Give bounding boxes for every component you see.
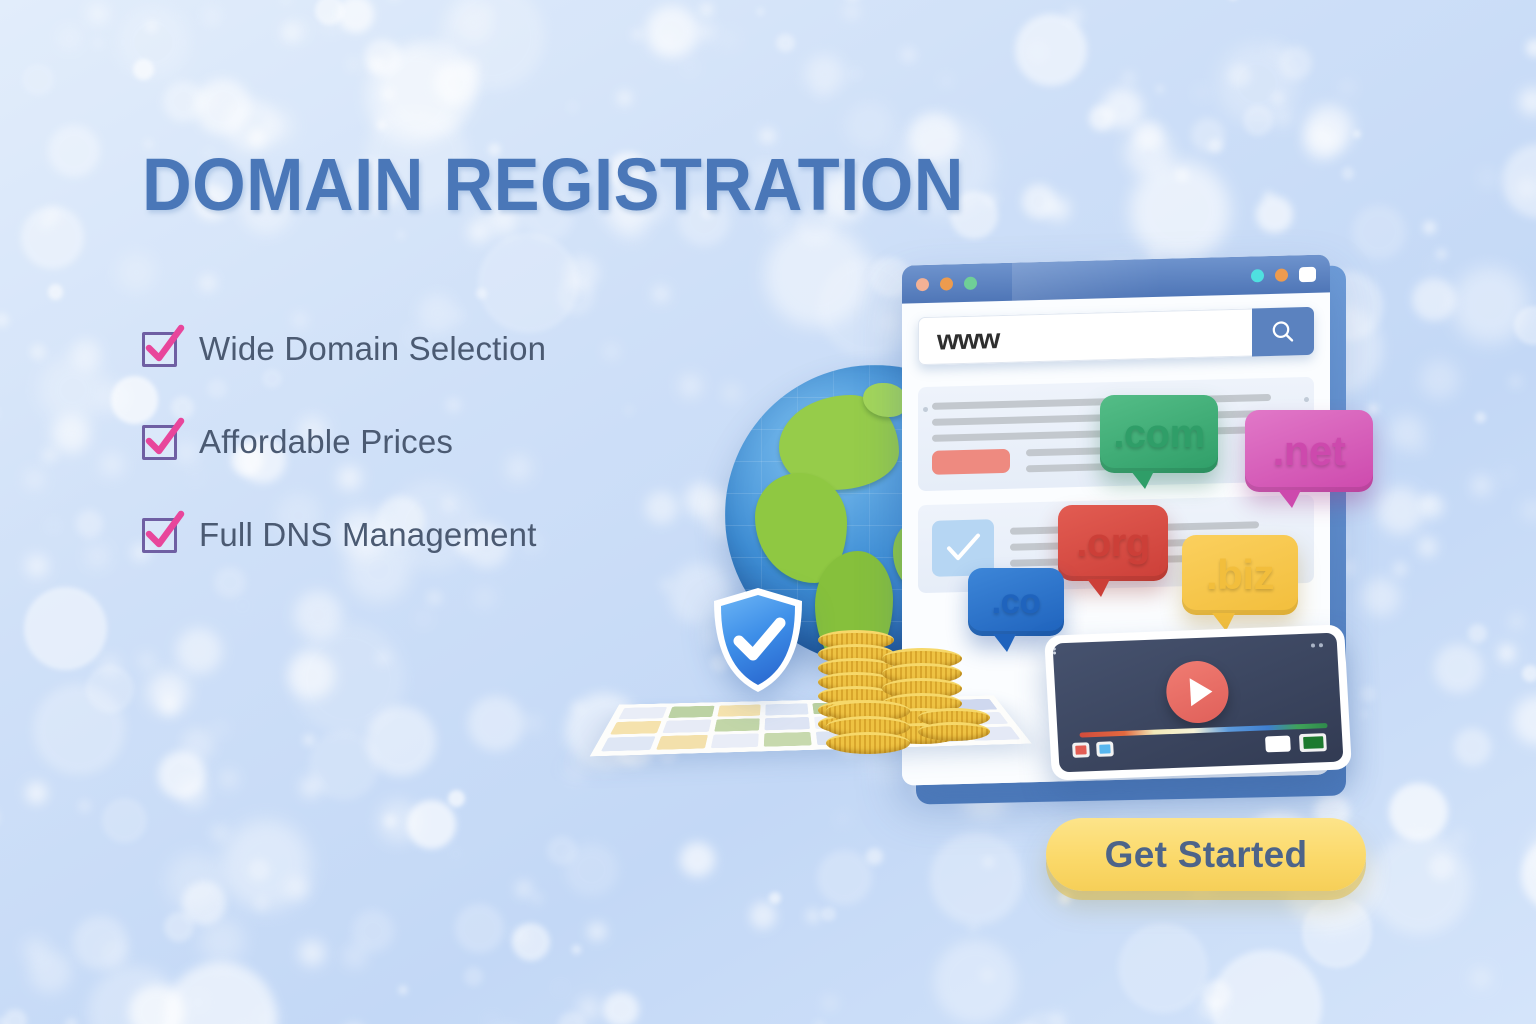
media-control-icon[interactable] — [1096, 741, 1114, 757]
window-dot-orange-icon — [1275, 268, 1288, 281]
play-icon[interactable] — [1165, 660, 1230, 724]
domain-bubble-com[interactable]: .com — [1100, 395, 1218, 473]
search-bar[interactable]: www — [918, 307, 1314, 365]
progress-bar[interactable] — [1079, 723, 1327, 738]
feature-list: Wide Domain Selection Affordable Prices … — [142, 330, 962, 554]
subtitle-control-icon[interactable] — [1265, 735, 1291, 752]
video-screen — [1052, 633, 1343, 773]
checkbox-checked-icon — [142, 518, 177, 553]
domain-bubble-co[interactable]: .co — [968, 568, 1064, 636]
list-item-label: Affordable Prices — [199, 423, 453, 461]
page-title: DOMAIN REGISTRATION — [142, 148, 905, 222]
window-dot-cyan-icon — [1251, 269, 1264, 282]
get-started-label: Get Started — [1105, 834, 1308, 876]
checkbox-checked-icon — [142, 425, 177, 460]
record-control-icon[interactable] — [1072, 742, 1090, 758]
list-item-label: Full DNS Management — [199, 516, 537, 554]
list-item: Wide Domain Selection — [142, 330, 962, 368]
domain-bubble-net[interactable]: .net — [1245, 410, 1373, 492]
domain-bubble-label: .biz — [1206, 551, 1274, 599]
domain-bubble-biz[interactable]: .biz — [1182, 535, 1298, 615]
get-started-button[interactable]: Get Started — [1046, 818, 1366, 891]
video-player-mockup[interactable] — [1044, 624, 1352, 780]
domain-bubble-label: .com — [1113, 412, 1204, 457]
hero-text-column: DOMAIN REGISTRATION Wide Domain Selectio… — [142, 148, 962, 609]
domain-bubble-label: .co — [991, 582, 1040, 622]
fullscreen-control-icon[interactable] — [1299, 733, 1327, 752]
domain-bubble-label: .org — [1076, 521, 1150, 566]
maximize-icon — [1299, 266, 1316, 281]
list-item: Affordable Prices — [142, 423, 962, 461]
checkbox-checked-icon — [142, 332, 177, 367]
search-icon — [1270, 318, 1296, 345]
more-options-icon[interactable] — [1052, 643, 1057, 654]
list-item: Full DNS Management — [142, 516, 962, 554]
camera-dots-icon — [1311, 643, 1323, 647]
search-input[interactable]: www — [918, 308, 1252, 365]
domain-bubble-label: .net — [1273, 427, 1346, 475]
search-button[interactable] — [1252, 307, 1314, 357]
domain-bubble-org[interactable]: .org — [1058, 505, 1168, 581]
window-dot-green-icon — [964, 276, 977, 289]
window-controls-right — [1251, 266, 1316, 283]
list-item-label: Wide Domain Selection — [199, 330, 546, 368]
